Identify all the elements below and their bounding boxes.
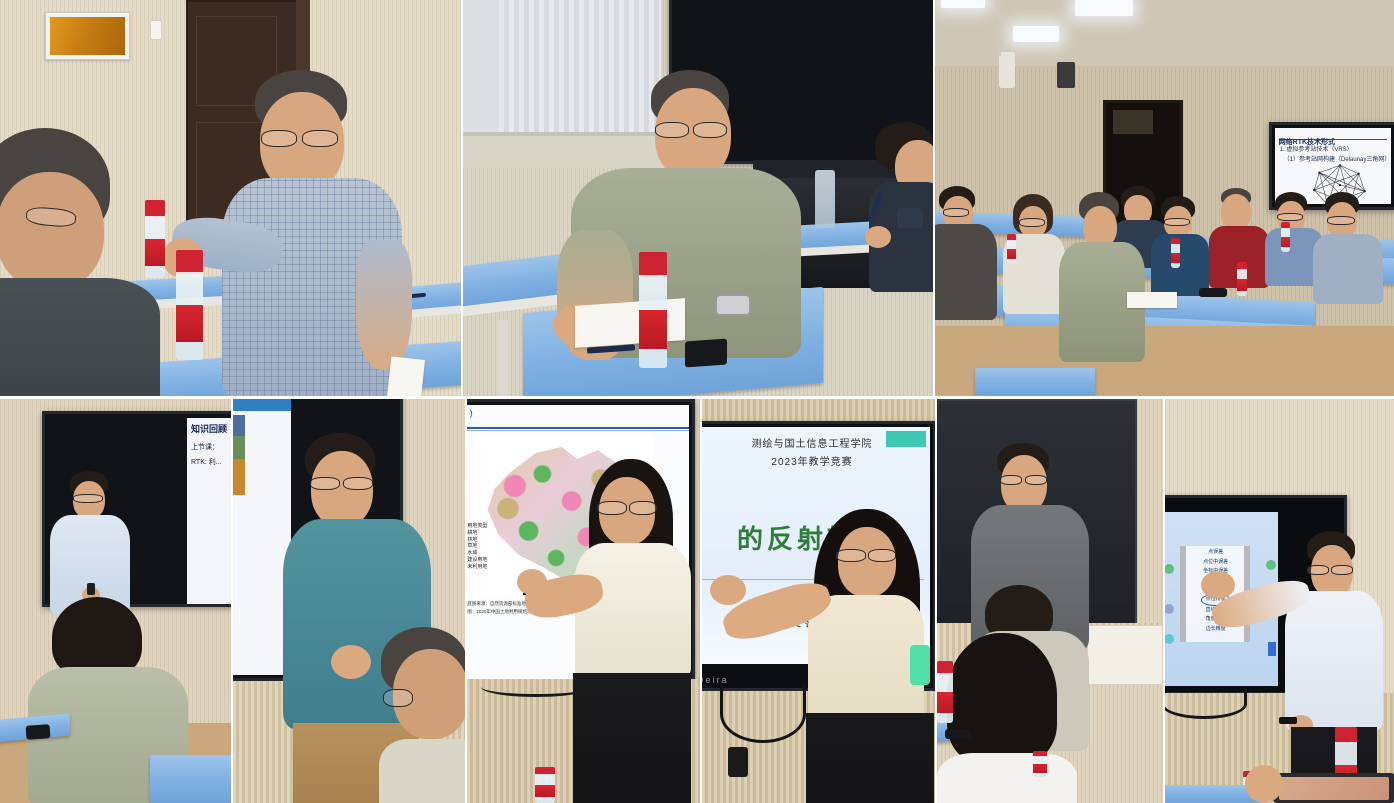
torso-white-tshirt — [575, 543, 691, 679]
head — [838, 527, 896, 597]
ceiling-light — [941, 0, 985, 8]
water-bottle — [535, 767, 555, 803]
door-window — [1113, 110, 1153, 134]
skirt — [806, 713, 934, 803]
cable — [1165, 689, 1247, 719]
photo-panel-lecturer-blackboard[interactable] — [937, 399, 1163, 803]
glasses — [1307, 565, 1329, 575]
board-slide: 知识回顾 上节课： RTK: 利... — [187, 418, 231, 606]
board-brand-label: Deira — [702, 675, 729, 685]
cable — [720, 685, 806, 743]
legend-item: 水域 — [467, 550, 487, 557]
smartphone — [945, 729, 971, 739]
hair — [947, 633, 1057, 763]
photo-panel-lecturer-radiation[interactable]: 测绘与国土信息工程学院 2023年教学竞赛 的反射辐射 吴喜芳 Deira — [702, 399, 935, 803]
hand — [1245, 765, 1283, 803]
presenter-clicker — [1279, 717, 1297, 724]
bottle-cap — [145, 200, 165, 217]
glasses — [597, 501, 627, 515]
frame-artwork — [50, 17, 125, 55]
bottle-label — [1033, 764, 1047, 773]
glasses — [1025, 475, 1047, 485]
blue-desk — [150, 755, 231, 803]
glasses — [1331, 565, 1353, 575]
skirt — [573, 673, 691, 803]
photo-panel-audience-classroom[interactable]: 网络RTK技术形式 1. 虚拟参考站技术（VRS） （1）参考站网构建（Dela… — [935, 0, 1394, 396]
framed-picture — [45, 12, 130, 60]
presenter-clicker — [87, 583, 95, 595]
bottle-cap — [639, 252, 667, 278]
slide-dot — [1266, 560, 1276, 570]
bottle-label — [1007, 249, 1016, 259]
slide-line: RTK: 利... — [191, 457, 231, 467]
papers — [1127, 292, 1177, 308]
ceiling-light — [1013, 26, 1059, 42]
bottle-cap — [176, 250, 203, 274]
torso-white-shirt — [1285, 591, 1383, 731]
wristwatch — [897, 208, 923, 228]
bottle-label — [176, 305, 203, 342]
collage-row-bottom: 知识回顾 上节课： RTK: 利... — [0, 399, 1394, 803]
green-item — [910, 645, 930, 685]
collage-row-top: 网络RTK技术形式 1. 虚拟参考站技术（VRS） （1）参考站网构建（Dela… — [0, 0, 1394, 396]
paper-handout — [385, 356, 425, 396]
bottle-label — [145, 239, 165, 266]
head — [1221, 194, 1251, 230]
slide-dot — [1165, 564, 1174, 574]
glasses — [1000, 475, 1022, 485]
glasses — [302, 130, 338, 147]
water-bottle — [1237, 262, 1247, 296]
photo-panel-pair-blackboard-and-screen[interactable]: 点误差 点位中误差 坐标中误差 点位精度 直线精度 角度精度 边长精度 — [937, 399, 1394, 803]
legend-item: 建设用地 — [467, 557, 487, 564]
bottle-label — [937, 692, 953, 713]
water-bottle — [1033, 751, 1047, 777]
legend-item: 草地 — [467, 543, 487, 550]
wall-panelling — [702, 399, 935, 423]
glasses — [655, 122, 689, 138]
light-switch-icon — [150, 20, 162, 40]
smartphone — [1199, 288, 1227, 297]
water-bottle — [1171, 238, 1180, 268]
wristwatch — [715, 294, 751, 316]
slide-line: 上节课： — [191, 442, 231, 452]
torso-lace-blouse — [808, 595, 924, 723]
torso-white — [937, 753, 1077, 803]
smartphone — [685, 339, 727, 368]
slide-title: 知识回顾 — [191, 422, 231, 435]
slide-rule — [467, 427, 689, 429]
water-bottle — [639, 252, 667, 368]
bottle-label — [1171, 253, 1180, 263]
photo-panel-lecturer-pointing-screen[interactable]: 点误差 点位中误差 坐标中误差 点位精度 直线精度 角度精度 边长精度 — [1165, 399, 1394, 803]
photo-collage: 网络RTK技术形式 1. 虚拟参考站技术（VRS） （1）参考站网构建（Dela… — [0, 0, 1394, 803]
projector-mount — [997, 16, 1001, 56]
water-bottle — [1281, 222, 1290, 252]
water-bottle — [145, 200, 165, 278]
glasses — [693, 122, 727, 138]
torso — [935, 224, 997, 320]
board-slide: 梯田 — [233, 399, 291, 675]
slide-rule — [467, 430, 689, 431]
lectern — [1087, 625, 1163, 685]
photo-panel-seated-reviewer[interactable] — [463, 0, 932, 396]
papers — [575, 298, 685, 348]
hand — [710, 575, 746, 605]
ceiling-light — [1075, 0, 1133, 16]
head — [0, 172, 104, 290]
slide-subtitle-line2: 2023年教学竞赛 — [702, 453, 930, 468]
glasses — [73, 494, 103, 503]
glasses — [261, 130, 297, 147]
slide-line: 1. 虚拟参考站技术（VRS） — [1280, 144, 1353, 153]
glasses — [310, 477, 340, 490]
glasses — [1164, 218, 1190, 226]
legend-heading: 用地类型 — [467, 523, 487, 530]
photo-panel-lecturer-terrace[interactable]: 梯田 — [233, 399, 466, 803]
slide-dot — [1165, 634, 1174, 644]
bottle-label — [1281, 237, 1290, 247]
slide-photo-terrace — [233, 415, 245, 495]
smartphone-in-hand — [1273, 773, 1394, 803]
slide-title: ） — [469, 407, 478, 420]
legend-item: 耕地 — [467, 530, 487, 537]
photo-panel-lecturer-rtk[interactable]: 知识回顾 上节课： RTK: 利... — [0, 399, 231, 803]
desk-leg — [499, 320, 508, 396]
speaker — [1057, 62, 1075, 88]
glasses — [1327, 216, 1355, 225]
slide-line: 点误差 — [1186, 548, 1246, 558]
power-adapter — [728, 747, 748, 777]
torso — [1151, 234, 1209, 296]
smartphone — [26, 724, 51, 740]
bottle-label — [639, 310, 667, 349]
slide-header-band — [233, 399, 291, 411]
legend-item: 未利用地 — [467, 564, 487, 571]
map-legend: 用地类型 耕地 林地 草地 水域 建设用地 未利用地 — [467, 523, 487, 570]
torso-dark-polo — [0, 278, 160, 396]
water-bottle — [176, 250, 203, 360]
water-bottle — [1007, 234, 1016, 264]
slide-subtitle-line1: 测绘与国土信息工程学院 — [702, 435, 930, 450]
slide-line: 点位中误差 — [1186, 558, 1246, 568]
glasses — [343, 477, 373, 490]
arm-right — [356, 240, 412, 370]
glasses — [868, 549, 896, 562]
glasses — [1277, 213, 1303, 221]
torso — [1313, 234, 1383, 304]
glasses — [836, 549, 866, 562]
bottle-label — [1237, 279, 1247, 291]
hand — [331, 645, 371, 679]
phone-screen — [1279, 777, 1389, 800]
glasses — [629, 501, 657, 515]
water-bottle — [937, 661, 953, 723]
photo-panel-discussion-closeup[interactable] — [0, 0, 461, 396]
photo-panel-lecturer-landuse-map[interactable]: ） 用地类型 耕地 林地 草地 水域 建设用地 — [467, 399, 700, 803]
glasses — [1019, 218, 1045, 227]
slide-dot — [1165, 604, 1174, 614]
glass-tumbler — [815, 170, 835, 228]
slide-marker — [1268, 642, 1276, 656]
hand-pointing — [1201, 571, 1235, 599]
projector — [999, 52, 1015, 88]
desk-row — [975, 368, 1095, 396]
glasses — [383, 689, 413, 707]
bottle-label — [535, 785, 555, 797]
glasses — [943, 208, 969, 217]
torso-light — [379, 739, 466, 803]
